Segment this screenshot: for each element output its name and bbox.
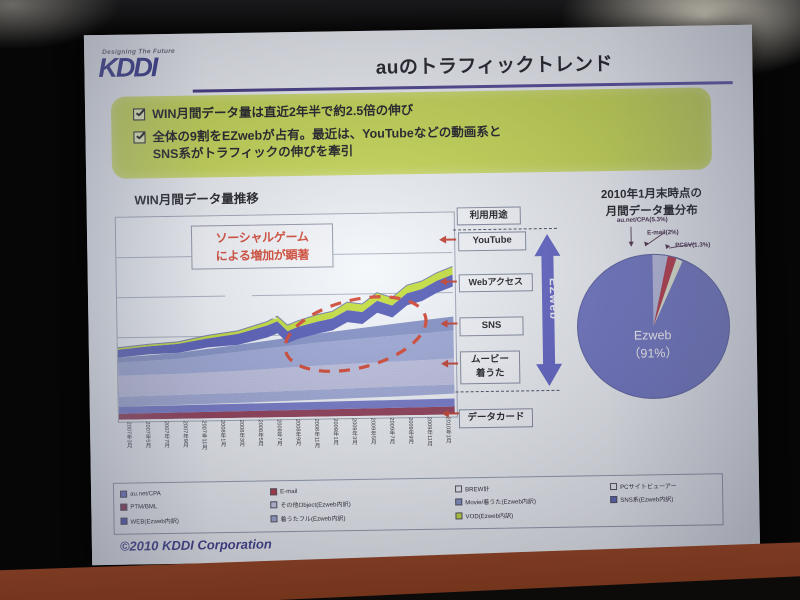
x-axis-tick-label: 2009年11月 [425,417,433,447]
x-axis-tick-label: 2008年7月 [275,419,283,446]
legend-item: E-mail [270,486,455,496]
x-axis-tick-label: 2008年1月 [218,420,226,447]
callout-line-2: による増加が顕著 [216,248,309,263]
legend-label: E-mail [280,488,297,495]
legend-item: BREW計 [455,482,610,493]
legend-label: VOD(Ezweb内訳) [465,510,513,520]
legend-label: その他Object(Ezweb内訳) [280,500,351,510]
usage-label-sns: SNS [459,316,523,336]
presentation-slide: Designing The Future KDDI auのトラフィックトレンド … [84,25,760,565]
label-connector-arrows [439,225,466,425]
legend-item: その他Object(Ezweb内訳) [270,498,455,510]
x-axis-tick-label: 2008年3月 [237,420,245,447]
ezweb-bracket-label: EZweb [537,278,560,320]
usage-column-header: 利用用途 [457,206,521,225]
projector-light-left [84,33,212,565]
ezweb-top-dash [453,228,557,231]
legend-swatch-icon [455,512,462,519]
usage-label-movie: ムービー着うた [460,350,521,384]
x-axis-tick-label: 2008年9月 [293,419,301,446]
usage-label-web-access: Webアクセス [459,273,533,292]
callout-line-1: ソーシャルゲーム [215,230,308,245]
legend-swatch-icon [270,515,277,522]
legend-swatch-icon [455,499,462,506]
x-axis-tick-label: 2009年1月 [331,418,339,445]
legend-label: 着うたフル(Ezweb内訳) [280,513,345,523]
legend-item: VOD(Ezweb内訳) [455,509,610,520]
ezweb-bottom-dash [456,390,560,393]
x-axis-tick-label: 2008年5月 [256,420,264,447]
usage-label-youtube: YouTube [458,231,526,251]
legend-item: 着うたフル(Ezweb内訳) [270,511,455,523]
x-axis-tick-label: 2009年9月 [406,417,414,444]
photograph-of-projected-slide: Designing The Future KDDI auのトラフィックトレンド … [0,0,800,600]
legend-label: BREW計 [465,484,490,493]
legend-swatch-icon [455,486,462,493]
social-game-callout: ソーシャルゲーム による増加が顕著 [191,223,334,269]
x-axis-tick-label: 2008年11月 [312,419,320,449]
legend-item: Movie/着うた(Ezweb内訳) [455,496,610,507]
legend-swatch-icon [270,502,277,509]
legend-label: Movie/着うた(Ezweb内訳) [465,497,536,507]
x-axis-tick-label: 2009年7月 [387,417,395,444]
x-axis-tick-label: 2009年5月 [368,418,376,445]
usage-label-data-card: データカード [459,408,533,428]
x-axis-tick-label: 2009年3月 [350,418,358,445]
projector-light-right [602,25,760,557]
legend-swatch-icon [270,488,277,495]
